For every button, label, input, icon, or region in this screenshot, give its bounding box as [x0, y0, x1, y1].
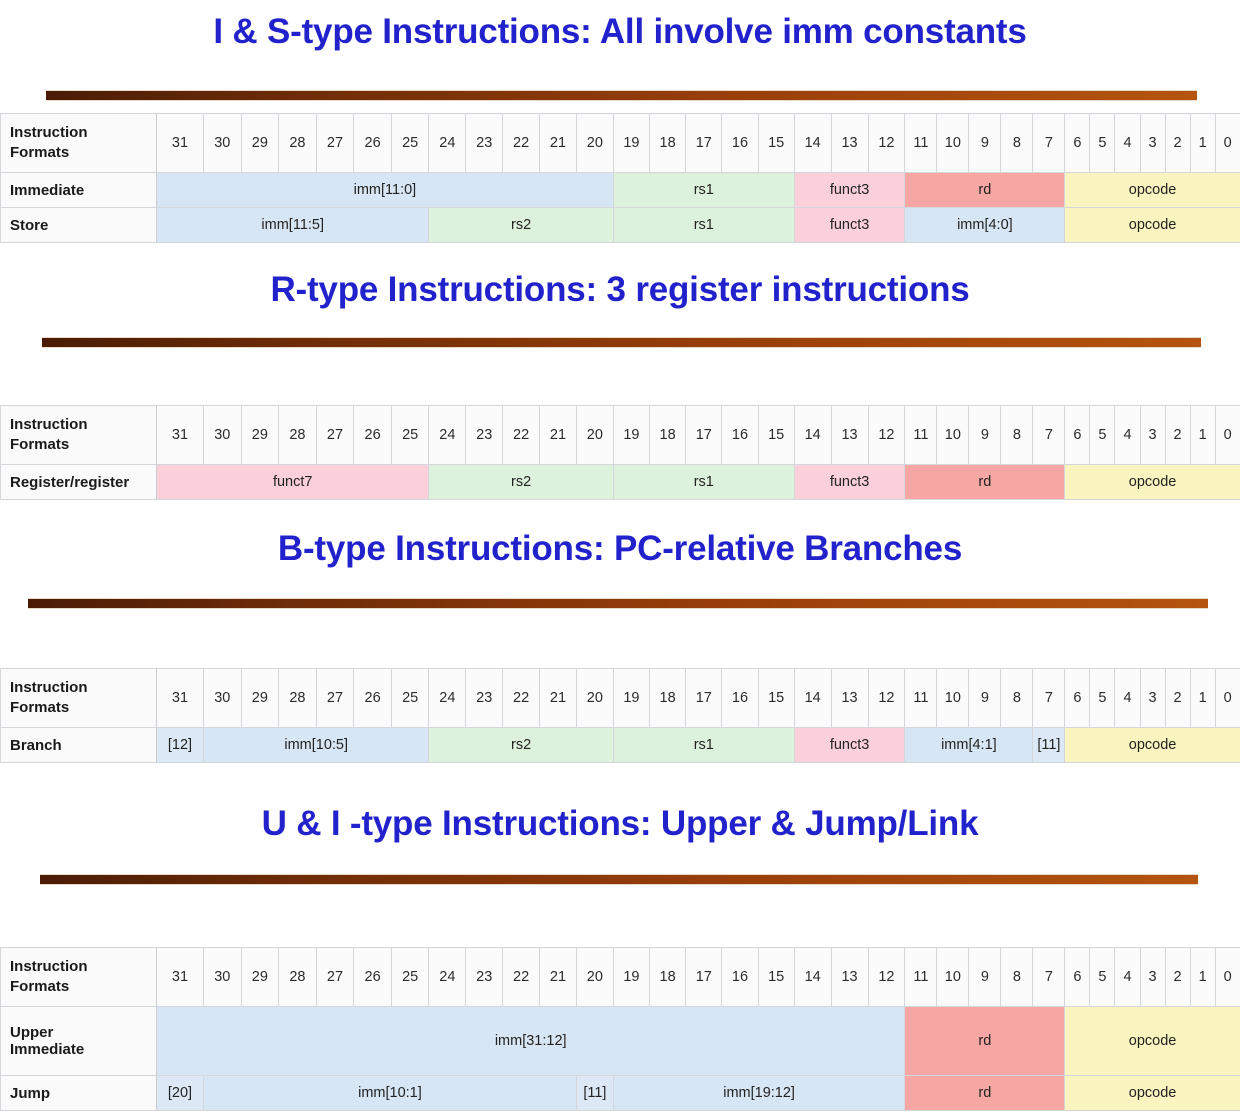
- bit-number-cell: 3: [1140, 948, 1165, 1007]
- bit-number-cell: 8: [1001, 114, 1033, 173]
- bit-number-cell: 24: [429, 948, 466, 1007]
- bit-number-cell: 15: [758, 406, 794, 465]
- instruction-formats-line1: Instruction: [10, 123, 156, 143]
- bit-number-cell: 1: [1190, 406, 1215, 465]
- bit-number-cell: 21: [540, 114, 577, 173]
- bit-number-cell: 20: [576, 948, 613, 1007]
- bit-number-header-row: InstructionFormats3130292827262524232221…: [1, 114, 1240, 173]
- bit-number-cell: 22: [503, 948, 540, 1007]
- bit-number-cell: 29: [241, 114, 279, 173]
- bit-number-cell: 21: [540, 406, 577, 465]
- bit-number-cell: 30: [203, 669, 241, 728]
- bit-number-cell: 10: [937, 114, 969, 173]
- field-cell: [12]: [157, 728, 204, 763]
- bit-number-cell: 30: [203, 406, 241, 465]
- bit-number-cell: 13: [831, 114, 868, 173]
- field-cell: opcode: [1065, 1007, 1240, 1076]
- bit-number-cell: 4: [1115, 114, 1140, 173]
- bit-number-cell: 16: [722, 948, 758, 1007]
- field-cell: opcode: [1065, 465, 1240, 500]
- bit-number-cell: 14: [794, 406, 831, 465]
- bit-number-cell: 11: [905, 669, 937, 728]
- bit-number-cell: 27: [316, 669, 354, 728]
- bit-number-cell: 9: [969, 669, 1001, 728]
- bit-number-cell: 31: [157, 948, 204, 1007]
- format-row: Immediateimm[11:0]rs1funct3rdopcode: [1, 173, 1240, 208]
- bit-number-cell: 23: [466, 948, 503, 1007]
- field-cell: imm[10:5]: [203, 728, 428, 763]
- bit-number-cell: 24: [429, 669, 466, 728]
- bit-number-cell: 12: [868, 114, 905, 173]
- bit-number-cell: 22: [503, 114, 540, 173]
- bit-number-cell: 0: [1215, 114, 1240, 173]
- field-cell: rs1: [613, 465, 794, 500]
- field-cell: rd: [905, 1007, 1065, 1076]
- bit-number-cell: 30: [203, 114, 241, 173]
- instruction-formats-line2: Formats: [10, 977, 156, 997]
- bit-number-header-row: InstructionFormats3130292827262524232221…: [1, 406, 1240, 465]
- bit-number-cell: 3: [1140, 406, 1165, 465]
- section-title-2: R-type Instructions: 3 register instruct…: [0, 272, 1240, 307]
- instruction-formats-line2: Formats: [10, 698, 156, 718]
- instruction-format-table-2: InstructionFormats3130292827262524232221…: [0, 405, 1240, 500]
- field-cell: imm[19:12]: [613, 1076, 905, 1111]
- bit-number-cell: 18: [650, 114, 686, 173]
- field-cell: rs2: [429, 208, 613, 243]
- bit-number-cell: 18: [650, 406, 686, 465]
- field-cell: imm[4:0]: [905, 208, 1065, 243]
- section-title-1: I & S-type Instructions: All involve imm…: [0, 14, 1240, 49]
- bit-number-cell: 25: [391, 669, 429, 728]
- bit-number-cell: 21: [540, 948, 577, 1007]
- section-divider-1: [46, 90, 1197, 101]
- format-row: Branch[12]imm[10:5]rs2rs1funct3imm[4:1][…: [1, 728, 1240, 763]
- bit-number-header-row: InstructionFormats3130292827262524232221…: [1, 948, 1240, 1007]
- bit-number-cell: 26: [354, 948, 392, 1007]
- bit-number-cell: 6: [1065, 948, 1090, 1007]
- bit-number-cell: 7: [1033, 948, 1065, 1007]
- field-cell: [11]: [1033, 728, 1065, 763]
- bit-number-cell: 16: [722, 406, 758, 465]
- bit-number-cell: 15: [758, 114, 794, 173]
- bit-number-cell: 10: [937, 669, 969, 728]
- field-cell: opcode: [1065, 173, 1240, 208]
- format-row-label: Immediate: [1, 173, 157, 208]
- format-row: Jump[20]imm[10:1][11]imm[19:12]rdopcode: [1, 1076, 1240, 1111]
- bit-number-cell: 17: [686, 114, 722, 173]
- bit-number-cell: 20: [576, 406, 613, 465]
- bit-number-cell: 0: [1215, 948, 1240, 1007]
- bit-number-cell: 9: [969, 948, 1001, 1007]
- bit-number-cell: 6: [1065, 406, 1090, 465]
- format-row-label-line2: Immediate: [10, 1041, 156, 1058]
- bit-number-cell: 0: [1215, 406, 1240, 465]
- bit-number-cell: 14: [794, 114, 831, 173]
- format-row-label: Register/register: [1, 465, 157, 500]
- field-cell: rs2: [429, 728, 613, 763]
- instruction-formats-line2: Formats: [10, 143, 156, 163]
- field-cell: funct3: [794, 728, 905, 763]
- field-cell: rs1: [613, 173, 794, 208]
- bit-number-cell: 27: [316, 948, 354, 1007]
- field-cell: rd: [905, 1076, 1065, 1111]
- field-cell: imm[4:1]: [905, 728, 1033, 763]
- instruction-formats-label: InstructionFormats: [1, 669, 157, 728]
- instruction-formats-line1: Instruction: [10, 678, 156, 698]
- bit-number-cell: 19: [613, 406, 649, 465]
- bit-number-cell: 26: [354, 669, 392, 728]
- bit-number-cell: 16: [722, 114, 758, 173]
- bit-number-cell: 11: [905, 406, 937, 465]
- bit-number-cell: 17: [686, 948, 722, 1007]
- bit-number-cell: 14: [794, 669, 831, 728]
- field-cell: opcode: [1065, 1076, 1240, 1111]
- bit-number-cell: 6: [1065, 114, 1090, 173]
- bit-number-cell: 8: [1001, 669, 1033, 728]
- bit-number-cell: 22: [503, 406, 540, 465]
- section-divider-4: [40, 874, 1198, 885]
- bit-number-cell: 28: [279, 948, 317, 1007]
- field-cell: rd: [905, 173, 1065, 208]
- bit-number-cell: 13: [831, 948, 868, 1007]
- bit-number-cell: 1: [1190, 114, 1215, 173]
- bit-number-cell: 28: [279, 114, 317, 173]
- instruction-format-table-1: InstructionFormats3130292827262524232221…: [0, 113, 1240, 243]
- bit-number-cell: 13: [831, 406, 868, 465]
- field-cell: opcode: [1065, 728, 1240, 763]
- bit-number-cell: 3: [1140, 669, 1165, 728]
- field-cell: rs2: [429, 465, 613, 500]
- bit-number-cell: 1: [1190, 948, 1215, 1007]
- bit-number-cell: 5: [1090, 948, 1115, 1007]
- bit-number-cell: 4: [1115, 406, 1140, 465]
- instruction-format-table-3: InstructionFormats3130292827262524232221…: [0, 668, 1240, 763]
- format-row-label-line1: Upper: [10, 1024, 156, 1041]
- bit-number-cell: 10: [937, 406, 969, 465]
- bit-number-cell: 4: [1115, 948, 1140, 1007]
- instruction-formats-line1: Instruction: [10, 957, 156, 977]
- bit-number-cell: 18: [650, 669, 686, 728]
- bit-number-cell: 5: [1090, 669, 1115, 728]
- bit-number-cell: 31: [157, 669, 204, 728]
- bit-number-cell: 4: [1115, 669, 1140, 728]
- bit-number-cell: 26: [354, 114, 392, 173]
- bit-number-cell: 23: [466, 669, 503, 728]
- bit-number-cell: 2: [1165, 114, 1190, 173]
- section-divider-2: [42, 337, 1201, 348]
- bit-number-cell: 30: [203, 948, 241, 1007]
- bit-number-cell: 25: [391, 406, 429, 465]
- bit-number-cell: 14: [794, 948, 831, 1007]
- bit-number-cell: 28: [279, 406, 317, 465]
- section-title-4: U & I -type Instructions: Upper & Jump/L…: [0, 806, 1240, 841]
- bit-number-cell: 29: [241, 948, 279, 1007]
- bit-number-cell: 3: [1140, 114, 1165, 173]
- bit-number-cell: 2: [1165, 948, 1190, 1007]
- bit-number-cell: 8: [1001, 406, 1033, 465]
- bit-number-cell: 1: [1190, 669, 1215, 728]
- format-row-label: UpperImmediate: [1, 1007, 157, 1076]
- bit-number-cell: 8: [1001, 948, 1033, 1007]
- field-cell: imm[11:5]: [157, 208, 429, 243]
- bit-number-cell: 10: [937, 948, 969, 1007]
- field-cell: [20]: [157, 1076, 204, 1111]
- format-row-label: Branch: [1, 728, 157, 763]
- bit-number-cell: 29: [241, 406, 279, 465]
- bit-number-cell: 22: [503, 669, 540, 728]
- bit-number-cell: 5: [1090, 114, 1115, 173]
- bit-number-cell: 11: [905, 948, 937, 1007]
- bit-number-cell: 6: [1065, 669, 1090, 728]
- bit-number-cell: 19: [613, 669, 649, 728]
- bit-number-cell: 12: [868, 948, 905, 1007]
- section-divider-3: [28, 598, 1208, 609]
- bit-number-cell: 15: [758, 669, 794, 728]
- field-cell: imm[10:1]: [203, 1076, 576, 1111]
- bit-number-cell: 28: [279, 669, 317, 728]
- bit-number-cell: 7: [1033, 406, 1065, 465]
- bit-number-cell: 26: [354, 406, 392, 465]
- bit-number-cell: 29: [241, 669, 279, 728]
- bit-number-cell: 15: [758, 948, 794, 1007]
- bit-number-cell: 2: [1165, 669, 1190, 728]
- section-title-3: B-type Instructions: PC-relative Branche…: [0, 531, 1240, 566]
- format-row: Register/registerfunct7rs2rs1funct3rdopc…: [1, 465, 1240, 500]
- bit-number-cell: 9: [969, 114, 1001, 173]
- field-cell: funct3: [794, 173, 905, 208]
- bit-number-cell: 12: [868, 669, 905, 728]
- instruction-formats-line1: Instruction: [10, 415, 156, 435]
- field-cell: rs1: [613, 208, 794, 243]
- field-cell: rs1: [613, 728, 794, 763]
- bit-number-cell: 16: [722, 669, 758, 728]
- bit-number-cell: 21: [540, 669, 577, 728]
- bit-number-cell: 24: [429, 114, 466, 173]
- bit-number-cell: 18: [650, 948, 686, 1007]
- instruction-formats-label: InstructionFormats: [1, 114, 157, 173]
- bit-number-cell: 31: [157, 406, 204, 465]
- bit-number-cell: 17: [686, 406, 722, 465]
- bit-number-cell: 25: [391, 948, 429, 1007]
- field-cell: imm[11:0]: [157, 173, 614, 208]
- bit-number-cell: 23: [466, 114, 503, 173]
- instruction-formats-line2: Formats: [10, 435, 156, 455]
- bit-number-cell: 23: [466, 406, 503, 465]
- instruction-formats-label: InstructionFormats: [1, 948, 157, 1007]
- bit-number-cell: 24: [429, 406, 466, 465]
- format-row: UpperImmediateimm[31:12]rdopcode: [1, 1007, 1240, 1076]
- bit-number-cell: 27: [316, 114, 354, 173]
- bit-number-cell: 13: [831, 669, 868, 728]
- bit-number-cell: 27: [316, 406, 354, 465]
- bit-number-cell: 9: [969, 406, 1001, 465]
- bit-number-cell: 25: [391, 114, 429, 173]
- bit-number-cell: 11: [905, 114, 937, 173]
- format-row-label: Jump: [1, 1076, 157, 1111]
- format-row-label: Store: [1, 208, 157, 243]
- bit-number-cell: 19: [613, 948, 649, 1007]
- field-cell: funct7: [157, 465, 429, 500]
- field-cell: opcode: [1065, 208, 1240, 243]
- bit-number-cell: 0: [1215, 669, 1240, 728]
- field-cell: funct3: [794, 465, 905, 500]
- bit-number-cell: 31: [157, 114, 204, 173]
- instruction-format-table-4: InstructionFormats3130292827262524232221…: [0, 947, 1240, 1111]
- bit-number-cell: 7: [1033, 669, 1065, 728]
- bit-number-cell: 7: [1033, 114, 1065, 173]
- field-cell: rd: [905, 465, 1065, 500]
- instruction-formats-label: InstructionFormats: [1, 406, 157, 465]
- bit-number-cell: 12: [868, 406, 905, 465]
- bit-number-cell: 2: [1165, 406, 1190, 465]
- field-cell: [11]: [576, 1076, 613, 1111]
- bit-number-cell: 17: [686, 669, 722, 728]
- field-cell: imm[31:12]: [157, 1007, 905, 1076]
- format-row: Storeimm[11:5]rs2rs1funct3imm[4:0]opcode: [1, 208, 1240, 243]
- bit-number-header-row: InstructionFormats3130292827262524232221…: [1, 669, 1240, 728]
- bit-number-cell: 19: [613, 114, 649, 173]
- bit-number-cell: 5: [1090, 406, 1115, 465]
- bit-number-cell: 20: [576, 114, 613, 173]
- field-cell: funct3: [794, 208, 905, 243]
- bit-number-cell: 20: [576, 669, 613, 728]
